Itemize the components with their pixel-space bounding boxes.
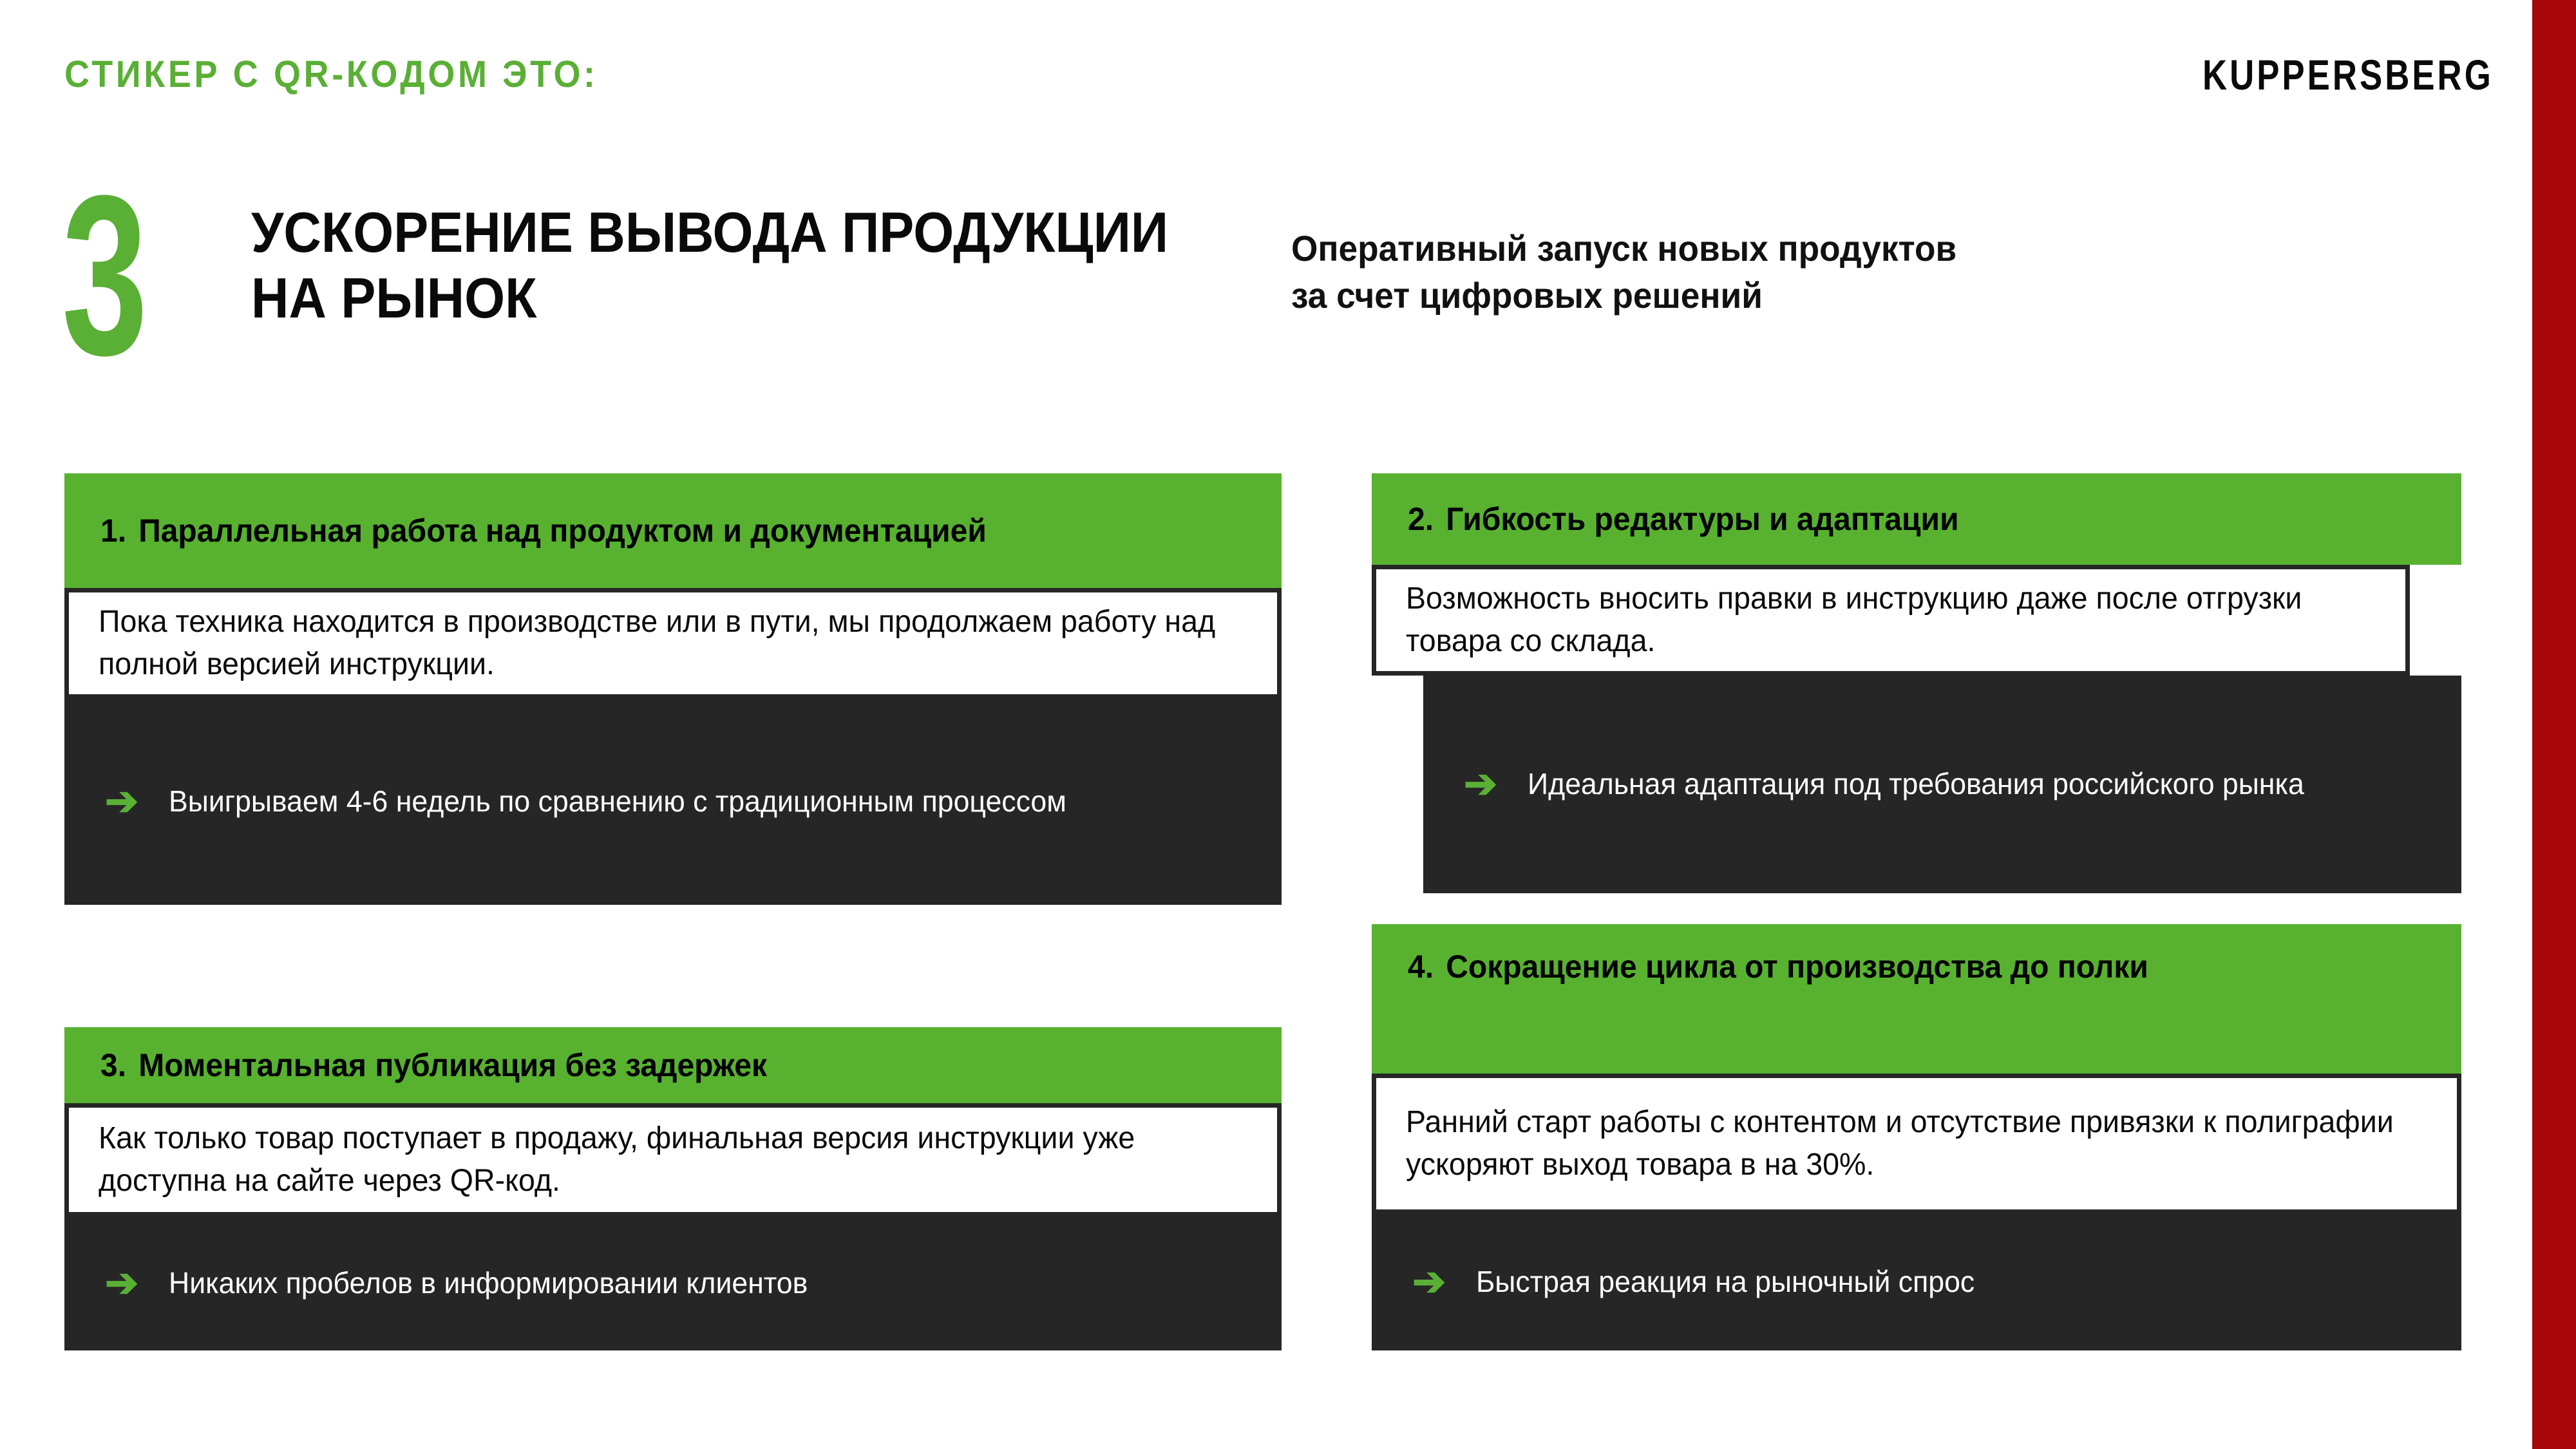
card-4-footer: ➔ Быстрая реакция на рыночный спрос [1372,1214,2461,1350]
card-1-footer: ➔ Выигрываем 4-6 недель по сравнению с т… [64,699,1282,905]
card-4-number: 4. [1408,949,1434,985]
card-1-header-text: Параллельная работа над продуктом и доку… [138,513,987,549]
card-2-body: Возможность вносить правки в инструкцию … [1372,565,2410,676]
card-3-header-inner: 3.Моментальная публикация без задержек [100,1045,1205,1086]
card-1-footer-text: Выигрываем 4-6 недель по сравнению с тра… [169,781,1223,822]
card-2-footer-text: Идеальная адаптация под требования росси… [1528,764,2409,804]
slide-kicker: СТИКЕР С QR-КОДОМ ЭТО: [64,53,598,96]
slide-root: СТИКЕР С QR-КОДОМ ЭТО: KUPPERSBERG 3 УСК… [0,0,2576,1449]
card-3-footer-text: Никаких пробелов в информировании клиент… [169,1263,1223,1303]
benefit-card-2: 2.Гибкость редактуры и адаптации Возможн… [1372,473,2461,893]
arrow-right-icon: ➔ [1408,1262,1450,1302]
card-2-body-text: Возможность вносить правки в инструкцию … [1406,578,2351,663]
card-1-body-text: Пока техника находится в производстве ил… [99,601,1217,686]
arrow-right-icon: ➔ [100,1264,143,1303]
card-4-footer-text: Быстрая реакция на рыночный спрос [1476,1262,2407,1302]
benefit-card-3: 3.Моментальная публикация без задержек К… [64,1027,1282,1350]
card-4-header: 4.Сокращение цикла от производства до по… [1372,924,2461,1074]
card-2-header-inner: 2.Гибкость редактуры и адаптации [1408,498,2389,540]
card-4-header-inner: 4.Сокращение цикла от производства до по… [1408,946,2389,988]
arrow-right-icon: ➔ [1459,764,1502,804]
card-3-header: 3.Моментальная публикация без задержек [64,1027,1282,1103]
card-3-number: 3. [100,1047,126,1083]
card-1-header: 1.Параллельная работа над продуктом и до… [64,473,1282,588]
subtitle-line-2: за счет цифровых решений [1291,272,2087,319]
card-2-header: 2.Гибкость редактуры и адаптации [1372,473,2461,565]
step-numeral: 3 [62,161,147,389]
card-1-number: 1. [100,513,126,549]
card-4-header-text: Сокращение цикла от производства до полк… [1446,949,2148,985]
card-3-header-text: Моментальная публикация без задержек [138,1047,767,1083]
card-3-footer: ➔ Никаких пробелов в информировании клие… [64,1217,1282,1350]
card-2-footer: ➔ Идеальная адаптация под требования рос… [1423,676,2461,893]
card-3-body: Как только товар поступает в продажу, фи… [64,1103,1282,1217]
card-2-number: 2. [1408,501,1434,537]
benefit-card-4: 4.Сокращение цикла от производства до по… [1372,924,2461,1350]
right-accent-bar [2532,0,2576,1449]
page-subtitle: Оперативный запуск новых продуктов за сч… [1291,225,2087,319]
page-title: УСКОРЕНИЕ ВЫВОДА ПРОДУКЦИИ НА РЫНОК [251,200,1170,331]
card-1-header-inner: 1.Параллельная работа над продуктом и до… [100,510,1205,552]
card-1-body: Пока техника находится в производстве ил… [64,588,1282,699]
card-4-body: Ранний старт работы с контентом и отсутс… [1372,1074,2461,1214]
benefit-card-1: 1.Параллельная работа над продуктом и до… [64,473,1282,905]
brand-logo: KUPPERSBERG [2202,50,2494,99]
card-2-header-text: Гибкость редактуры и адаптации [1446,501,1958,537]
arrow-right-icon: ➔ [100,782,143,822]
card-4-body-text: Ранний старт работы с контентом и отсутс… [1406,1101,2400,1186]
subtitle-line-1: Оперативный запуск новых продуктов [1291,225,2087,272]
card-3-body-text: Как только товар поступает в продажу, фи… [99,1117,1217,1202]
